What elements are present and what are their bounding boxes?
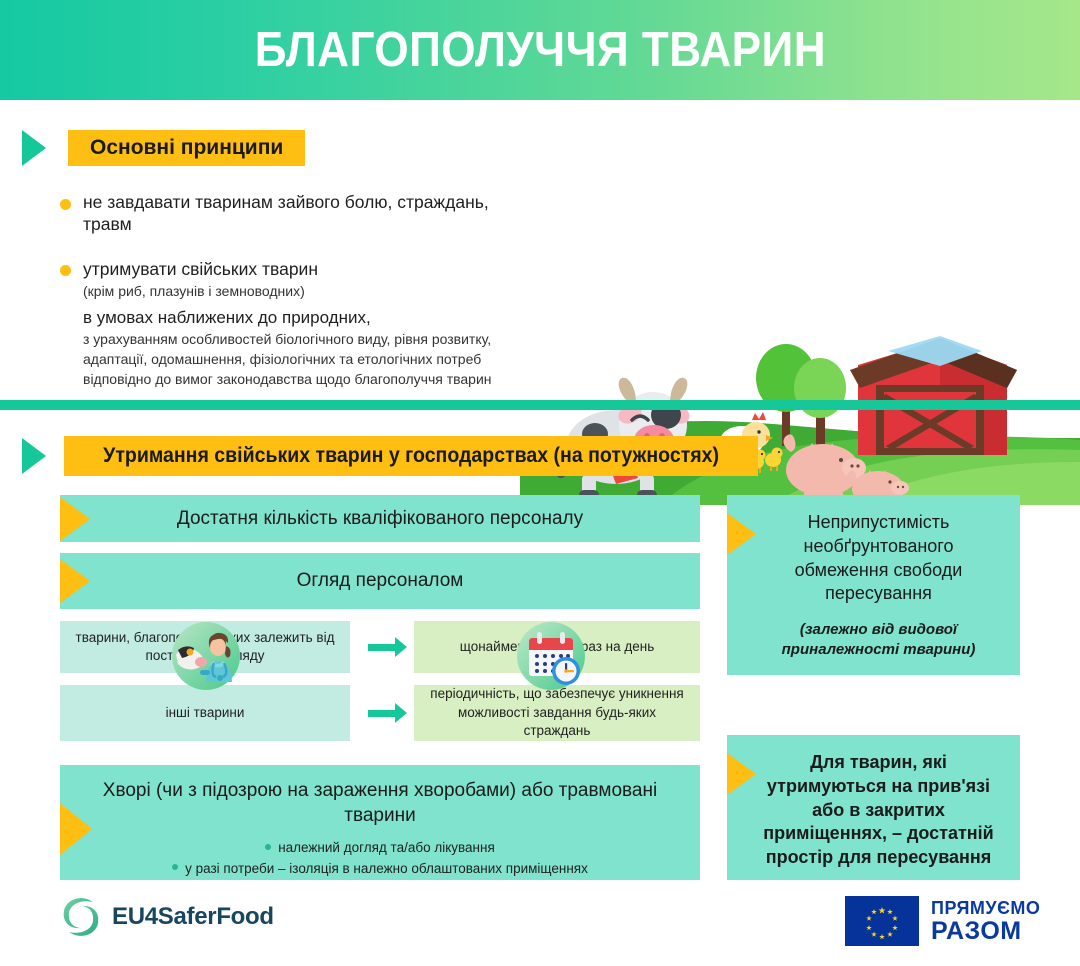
principles-heading-row: Основні принципи <box>22 130 305 166</box>
sick-animals-box: Хворі (чи з підозрою на зараження хвороб… <box>60 765 700 893</box>
triangle-marker-icon <box>22 130 46 166</box>
bullet-text: не завдавати тваринам зайвого болю, стра… <box>83 192 530 236</box>
housing-badge: Утримання свійських тварин у господарств… <box>64 436 758 476</box>
eu-together-line1: ПРЯМУЄМО <box>931 899 1040 917</box>
sick-animals-title: Хворі (чи з підозрою на зараження хвороб… <box>100 779 660 828</box>
bullet-dot-icon <box>172 864 178 870</box>
bullet-dot-icon <box>265 844 271 850</box>
eu-flag-icon <box>845 896 919 946</box>
housing-left-column: Достатня кількість кваліфікованого персо… <box>60 495 700 893</box>
bullet-mid-text: в умовах наближених до природних, <box>83 307 530 329</box>
bullet-dot-icon <box>60 265 71 276</box>
housing-heading-row: Утримання свійських тварин у господарств… <box>22 436 758 476</box>
row-result: періодичність, що забезпечує уникнення м… <box>414 685 700 741</box>
section-divider <box>0 400 1080 410</box>
veterinarian-with-cow-icon <box>170 620 242 692</box>
eu4saferfood-label: EU4SaferFood <box>112 903 274 931</box>
principles-badge: Основні принципи <box>68 130 305 166</box>
page-footer: EU4SaferFood ПРЯМУЄМО <box>0 880 1080 966</box>
principles-bullet-list: не завдавати тваринам зайвого болю, стра… <box>60 192 530 390</box>
list-item: не завдавати тваринам зайвого болю, стра… <box>60 192 530 236</box>
list-item: належний догляд та/або лікування <box>100 838 660 858</box>
sick-animals-list: належний догляд та/або лікування у разі … <box>100 838 660 879</box>
eu-together-logo: ПРЯМУЄМО РАЗОМ <box>845 896 1040 946</box>
arrow-right-icon <box>350 685 414 741</box>
eu-together-text: ПРЯМУЄМО РАЗОМ <box>931 899 1040 944</box>
bullet-note: (крім риб, плазунів і земноводних) <box>83 281 530 301</box>
table-row: тварини, благополуччя яких залежить від … <box>60 621 700 673</box>
page-title: БЛАГОПОЛУЧЧЯ ТВАРИН <box>254 26 825 75</box>
staff-band-label: Достатня кількість кваліфікованого персо… <box>137 508 623 530</box>
staff-band: Достатня кількість кваліфікованого персо… <box>60 495 700 542</box>
arrow-right-icon <box>350 621 414 673</box>
bullet-detail: з урахуванням особливостей біологічного … <box>83 329 530 390</box>
freedom-box-title: Неприпустимість необґрунтованого обмежен… <box>755 511 1002 606</box>
sick-item-label: належний догляд та/або лікування <box>278 840 495 855</box>
sick-item-label: у разі потреби – ізоляція в належно обла… <box>185 861 588 876</box>
list-item: утримувати свійських тварин (крім риб, п… <box>60 258 530 390</box>
section-housing: Утримання свійських тварин у господарств… <box>0 410 1080 880</box>
eu4saferfood-logo: EU4SaferFood <box>60 894 274 940</box>
page-header: БЛАГОПОЛУЧЧЯ ТВАРИН <box>0 0 1080 100</box>
list-item: у разі потреби – ізоляція в належно обла… <box>100 859 660 879</box>
row-condition: інші тварини <box>60 685 350 741</box>
triangle-marker-icon <box>22 438 46 474</box>
review-band: Огляд персоналом <box>60 553 700 609</box>
freedom-of-movement-box: Неприпустимість необґрунтованого обмежен… <box>727 495 1020 675</box>
bullet-dot-icon <box>60 199 71 210</box>
infographic-page: БЛАГОПОЛУЧЧЯ ТВАРИН Основні принципи не … <box>0 0 1080 966</box>
eu-together-line2: РАЗОМ <box>931 919 1040 944</box>
table-row: інші тварини періодичність, що забезпечу… <box>60 685 700 741</box>
calendar-clock-icon <box>515 620 587 692</box>
review-band-label: Огляд персоналом <box>257 570 504 592</box>
housing-badge-label: Утримання свійських тварин у господарств… <box>103 444 719 468</box>
freedom-box-sub: (залежно від видової приналежності твари… <box>755 620 1002 659</box>
eu4saferfood-mark-icon <box>60 894 102 940</box>
tethered-box-title: Для тварин, які утримуються на прив'язі … <box>755 751 1002 870</box>
housing-right-column: Неприпустимість необґрунтованого обмежен… <box>727 495 1020 939</box>
section-principles: Основні принципи не завдавати тваринам з… <box>0 100 1080 400</box>
bullet-text: утримувати свійських тварин <box>83 258 530 281</box>
